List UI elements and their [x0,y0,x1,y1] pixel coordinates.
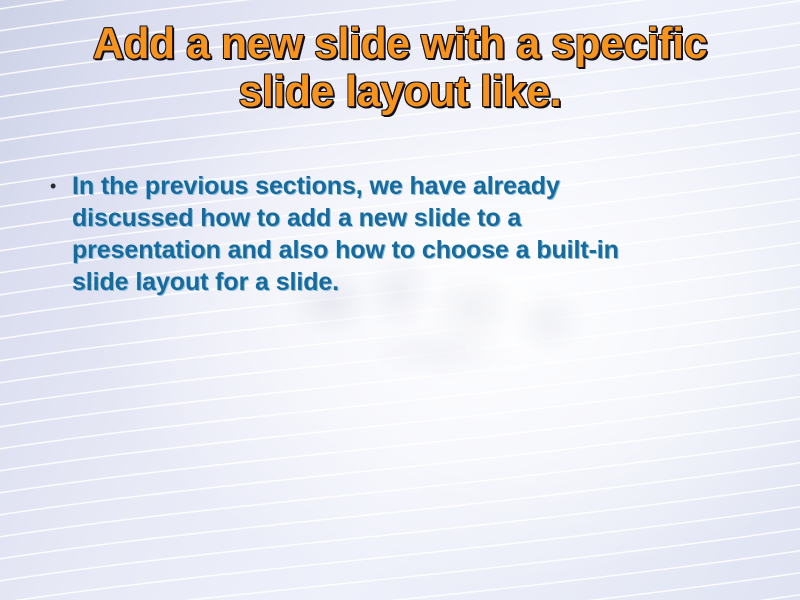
bullet-marker-icon: • [46,170,72,202]
bullet-text-line-2: discussed how to add a new slide to a [72,202,672,234]
slide-title-line-2: slide layout like. [51,68,749,116]
slide-title-line-1: Add a new slide with a specific [51,20,749,68]
presentation-slide: Add a new slide with a specific slide la… [0,0,800,600]
slide-title: Add a new slide with a specific slide la… [40,20,760,116]
bullet-item-text: In the previous sections, we have alread… [72,170,672,298]
bullet-text-line-3: presentation and also how to choose a bu… [72,234,672,266]
slide-body: • In the previous sections, we have alre… [46,170,746,298]
bullet-text-line-1: In the previous sections, we have alread… [72,170,672,202]
bullet-text-line-4: slide layout for a slide. [72,266,672,298]
bullet-list-item: • In the previous sections, we have alre… [46,170,746,298]
slide-content: Add a new slide with a specific slide la… [0,0,800,600]
